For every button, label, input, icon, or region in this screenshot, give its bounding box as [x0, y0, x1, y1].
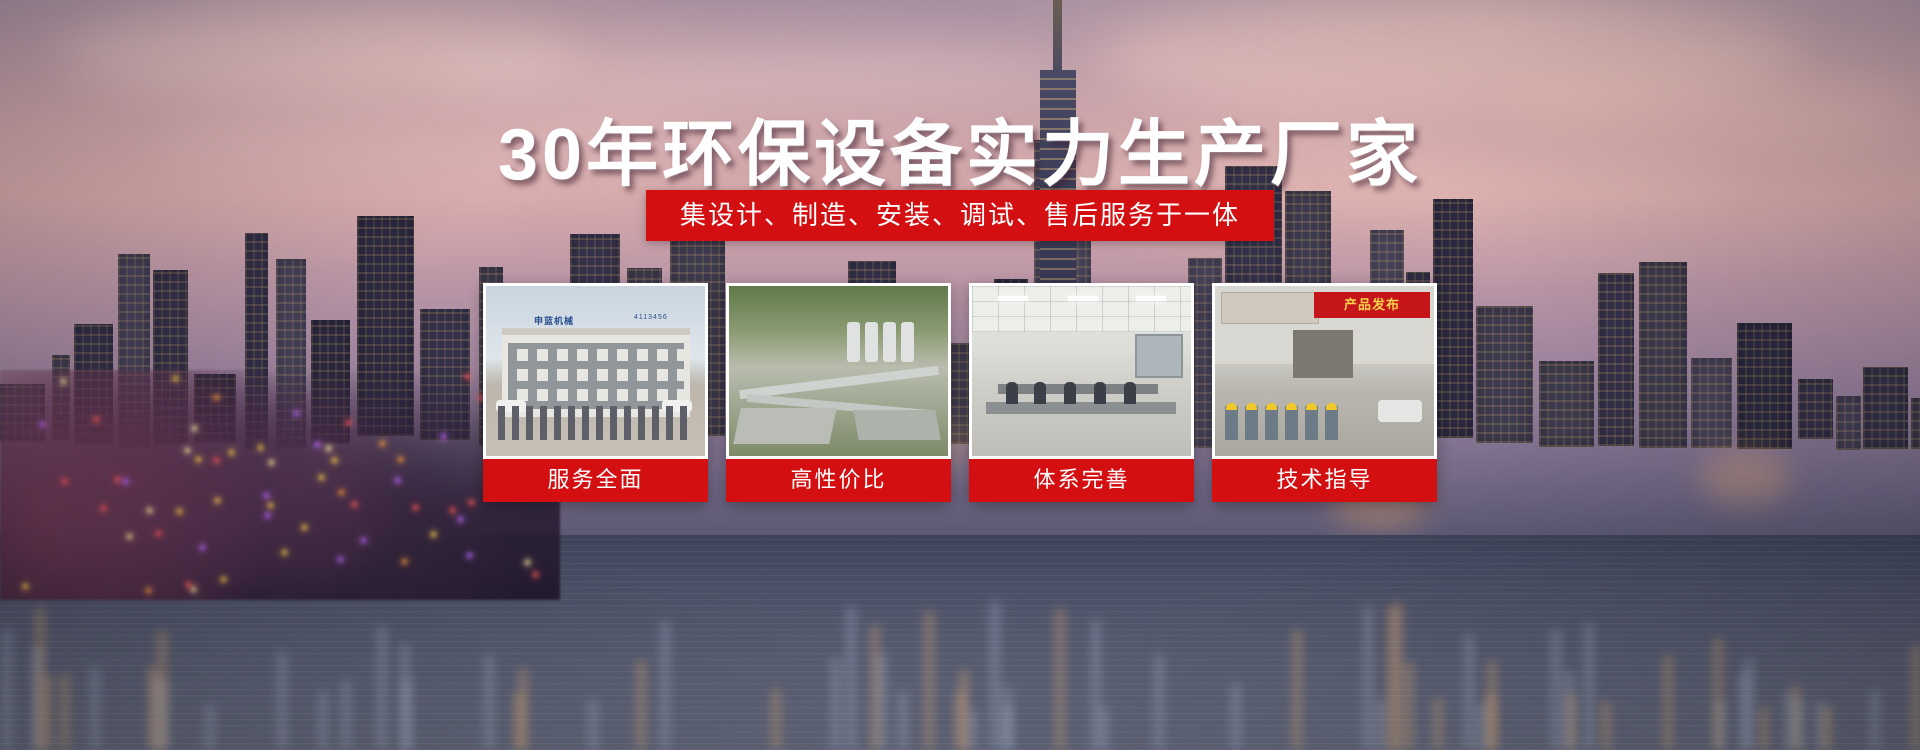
feature-card[interactable]: 高性价比 [726, 283, 951, 502]
card-caption: 技术指导 [1212, 459, 1437, 502]
subtitle-badge: 集设计、制造、安装、调试、售后服务于一体 [646, 190, 1274, 241]
promo-banner: 30年环保设备实力生产厂家 集设计、制造、安装、调试、售后服务于一体 申蓝机械 … [0, 0, 1920, 750]
card-photo-workshop-workers: 产品发布 [1215, 286, 1434, 456]
card-caption: 体系完善 [969, 459, 1194, 502]
banner-content: 30年环保设备实力生产厂家 集设计、制造、安装、调试、售后服务于一体 申蓝机械 … [0, 0, 1920, 750]
feature-card[interactable]: 体系完善 [969, 283, 1194, 502]
building-sign-phone: 4113456 [634, 314, 668, 321]
card-photo-plant-aerial [729, 286, 948, 456]
page-title: 30年环保设备实力生产厂家 [0, 95, 1920, 200]
feature-card[interactable]: 申蓝机械 4113456 服务全面 [483, 283, 708, 502]
card-photo-office-interior [972, 286, 1191, 456]
workshop-banner-text: 产品发布 [1314, 292, 1430, 318]
feature-card[interactable]: 产品发布 技术指导 [1212, 283, 1437, 502]
feature-card-list: 申蓝机械 4113456 服务全面 [0, 283, 1920, 502]
card-caption: 高性价比 [726, 459, 951, 502]
building-sign-text: 申蓝机械 [534, 314, 574, 327]
card-caption: 服务全面 [483, 459, 708, 502]
subtitle-container: 集设计、制造、安装、调试、售后服务于一体 [0, 190, 1920, 241]
card-photo-company-building: 申蓝机械 4113456 [486, 286, 705, 456]
